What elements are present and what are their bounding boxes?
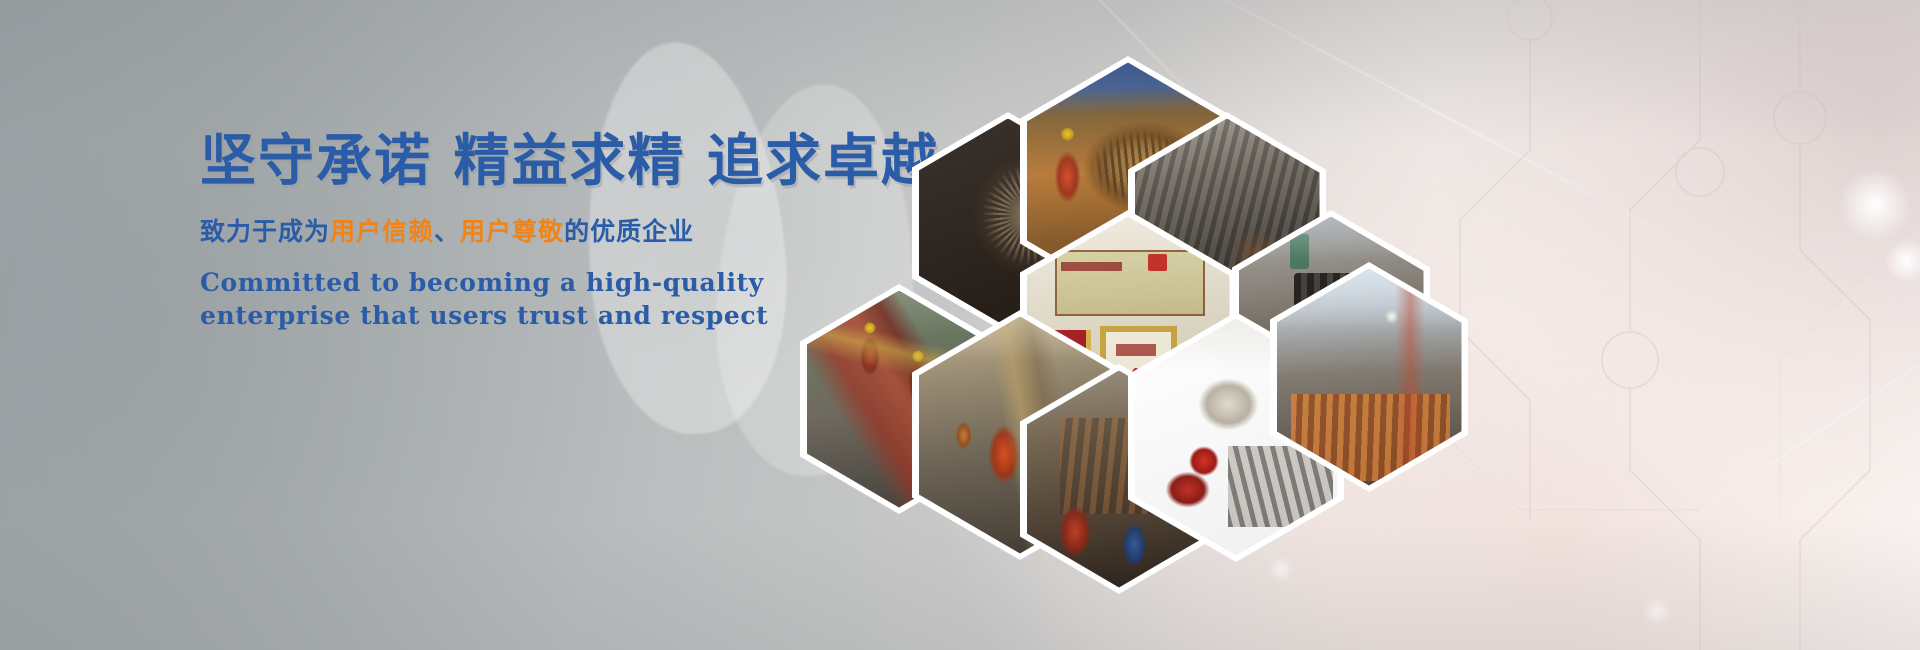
sub-slogan-part1: 致力于成为 [200,217,330,246]
light-glow-dot [1642,596,1672,626]
sub-slogan-highlight-trust: 用户信赖 [330,217,434,246]
sub-slogan-highlight-respect: 用户尊敬 [460,217,564,246]
light-glow-dot [1838,168,1912,242]
circuit-trace-decoration [1400,0,1920,650]
hexagon-photo-collage [770,52,1430,522]
company-promo-banner: 坚守承诺 精益求精 追求卓越 致力于成为用户信赖、用户尊敬的优质企业 Commi… [0,0,1920,650]
light-glow-dot [1268,556,1294,582]
sub-slogan-part2: 的优质企业 [564,217,694,246]
sub-slogan-separator: 、 [434,217,460,246]
